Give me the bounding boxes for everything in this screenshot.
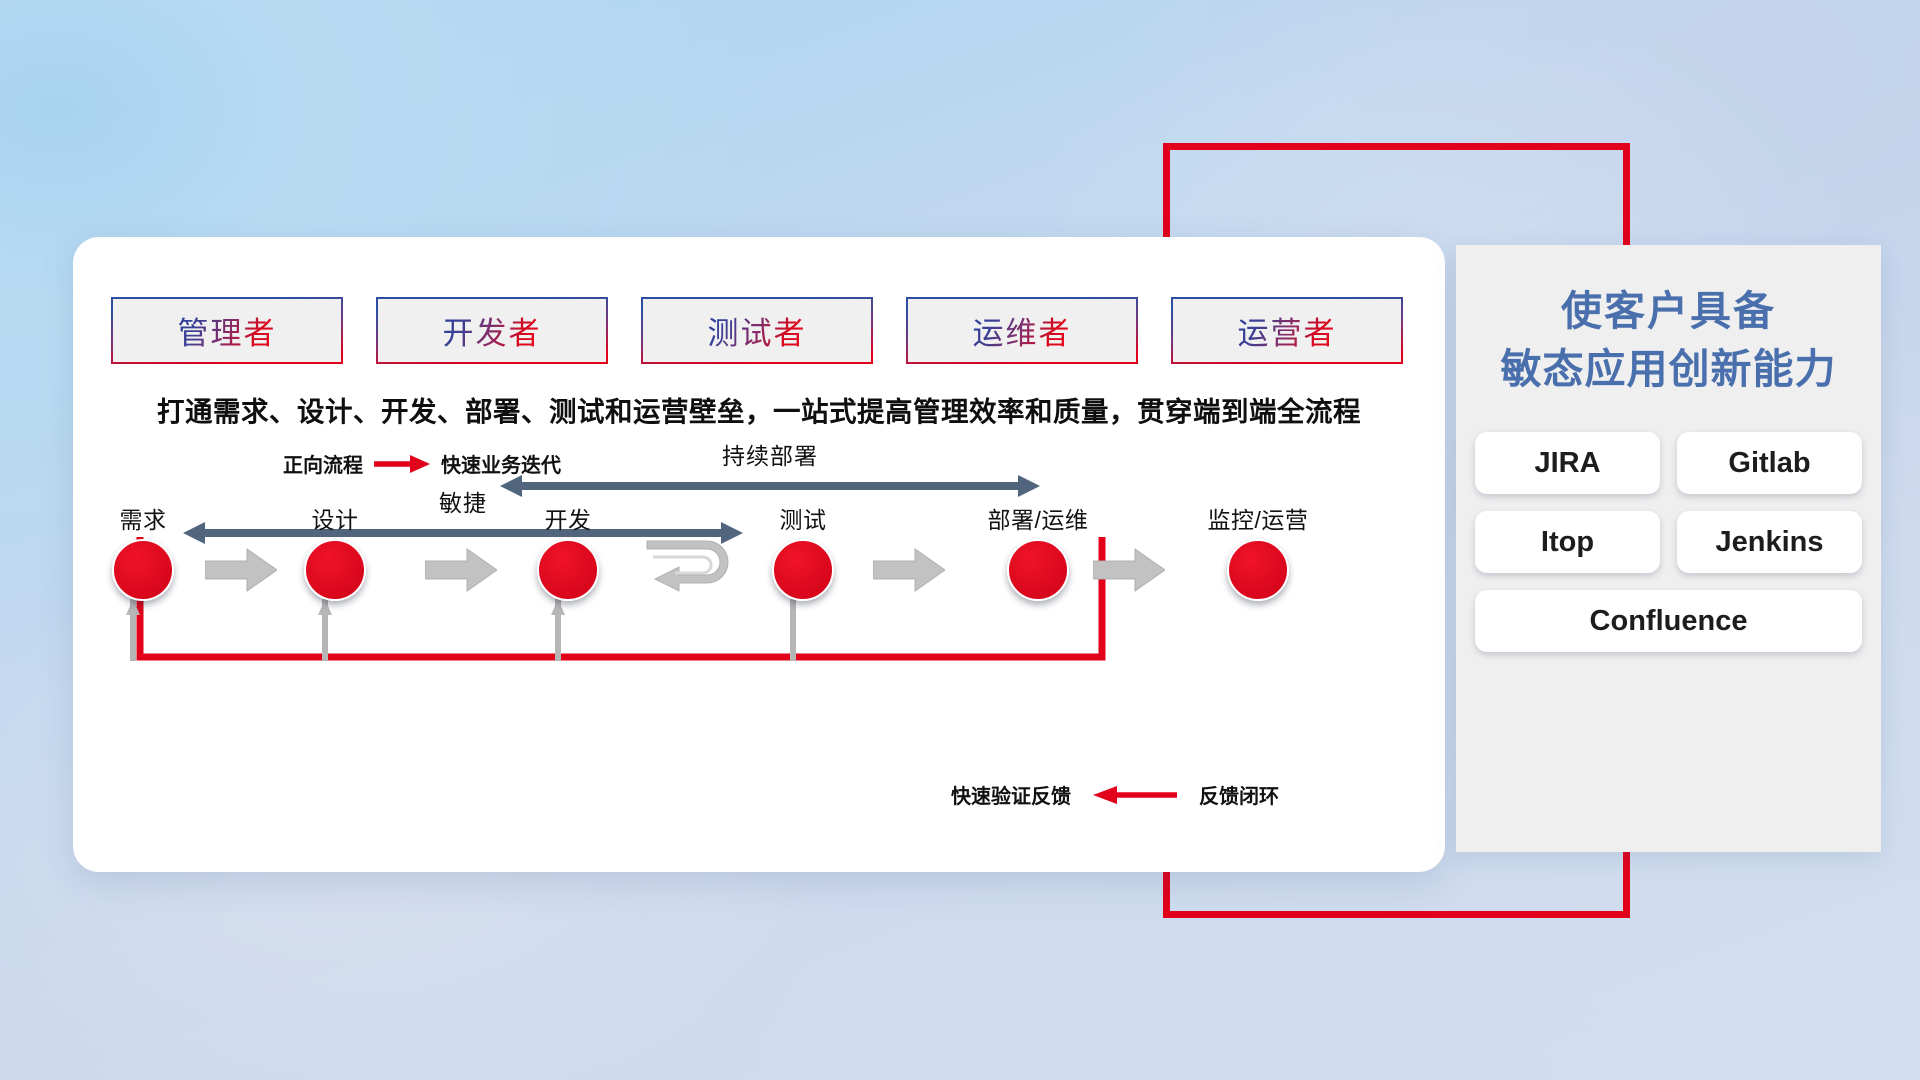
arrow-left-red-icon [1093, 784, 1177, 806]
panel-title-line1: 使客户具备 [1456, 282, 1881, 340]
role-label: 运维者 [973, 308, 1072, 353]
stem-up-icon [318, 599, 332, 661]
stage-deploy-ops[interactable]: 部署/运维 [963, 501, 1113, 601]
stage-label: 部署/运维 [963, 501, 1113, 535]
stage-dot [1227, 539, 1289, 601]
stage-dot [1007, 539, 1069, 601]
stage-requirement[interactable]: 需求 [93, 501, 193, 601]
span-label: 持续部署 [500, 437, 1040, 471]
devops-flow-card: 管理者 开发者 测试者 运维者 运营者 打通需求、设计、开发、部署、测试和运营壁… [73, 237, 1445, 872]
tool-chip-grid: JIRA Gitlab Itop Jenkins Confluence [1475, 432, 1862, 652]
legend-feedback-loop: 快速验证反馈 反馈闭环 [951, 780, 1279, 809]
cycle-loop-icon [645, 539, 737, 605]
arrow-right-red-icon [374, 453, 430, 475]
chevron-right-icon [1093, 547, 1165, 593]
tool-chip-jira[interactable]: JIRA [1475, 432, 1660, 494]
pipeline: 需求 设计 开发 测试 部署/运维 监控/运营 [73, 537, 1445, 737]
stage-test[interactable]: 测试 [753, 501, 853, 601]
stage-develop[interactable]: 开发 [518, 501, 618, 601]
stage-label: 测试 [753, 501, 853, 535]
role-box-ops[interactable]: 运维者 [906, 297, 1138, 364]
role-label: 运营者 [1238, 308, 1337, 353]
role-box-operator[interactable]: 运营者 [1171, 297, 1403, 364]
stage-dot [537, 539, 599, 601]
span-label: 敏捷 [183, 484, 743, 518]
value-proposition-panel: 使客户具备 敏态应用创新能力 JIRA Gitlab Itop Jenkins … [1456, 245, 1881, 852]
chevron-right-icon [205, 547, 277, 593]
stage-dot [304, 539, 366, 601]
legend-forward-left-label: 正向流程 [283, 449, 363, 478]
stage-dot [112, 539, 174, 601]
tool-chip-gitlab[interactable]: Gitlab [1677, 432, 1862, 494]
role-box-developer[interactable]: 开发者 [376, 297, 608, 364]
tool-chip-confluence[interactable]: Confluence [1475, 590, 1862, 652]
role-box-manager[interactable]: 管理者 [111, 297, 343, 364]
tool-chip-jenkins[interactable]: Jenkins [1677, 511, 1862, 573]
stem-up-icon [786, 599, 800, 661]
chevron-right-icon [873, 547, 945, 593]
stage-dot [772, 539, 834, 601]
stem-up-icon [551, 599, 565, 661]
panel-title: 使客户具备 敏态应用创新能力 [1456, 245, 1881, 398]
stem-up-icon [126, 599, 140, 661]
headline-text: 打通需求、设计、开发、部署、测试和运营壁垒，一站式提高管理效率和质量，贯穿端到端… [73, 389, 1445, 429]
role-label: 开发者 [443, 308, 542, 353]
role-label: 管理者 [178, 308, 277, 353]
tool-chip-itop[interactable]: Itop [1475, 511, 1660, 573]
role-box-row: 管理者 开发者 测试者 运维者 运营者 [111, 297, 1403, 364]
stage-label: 设计 [285, 501, 385, 535]
panel-title-line2: 敏态应用创新能力 [1456, 340, 1881, 398]
legend-feedback-right-label: 反馈闭环 [1199, 780, 1279, 809]
stage-label: 开发 [518, 501, 618, 535]
stage-design[interactable]: 设计 [285, 501, 385, 601]
stage-label: 监控/运营 [1183, 501, 1333, 535]
chevron-right-icon [425, 547, 497, 593]
stage-monitor-operate[interactable]: 监控/运营 [1183, 501, 1333, 601]
role-box-tester[interactable]: 测试者 [641, 297, 873, 364]
role-label: 测试者 [708, 308, 807, 353]
stage-label: 需求 [93, 501, 193, 535]
legend-feedback-left-label: 快速验证反馈 [951, 780, 1071, 809]
